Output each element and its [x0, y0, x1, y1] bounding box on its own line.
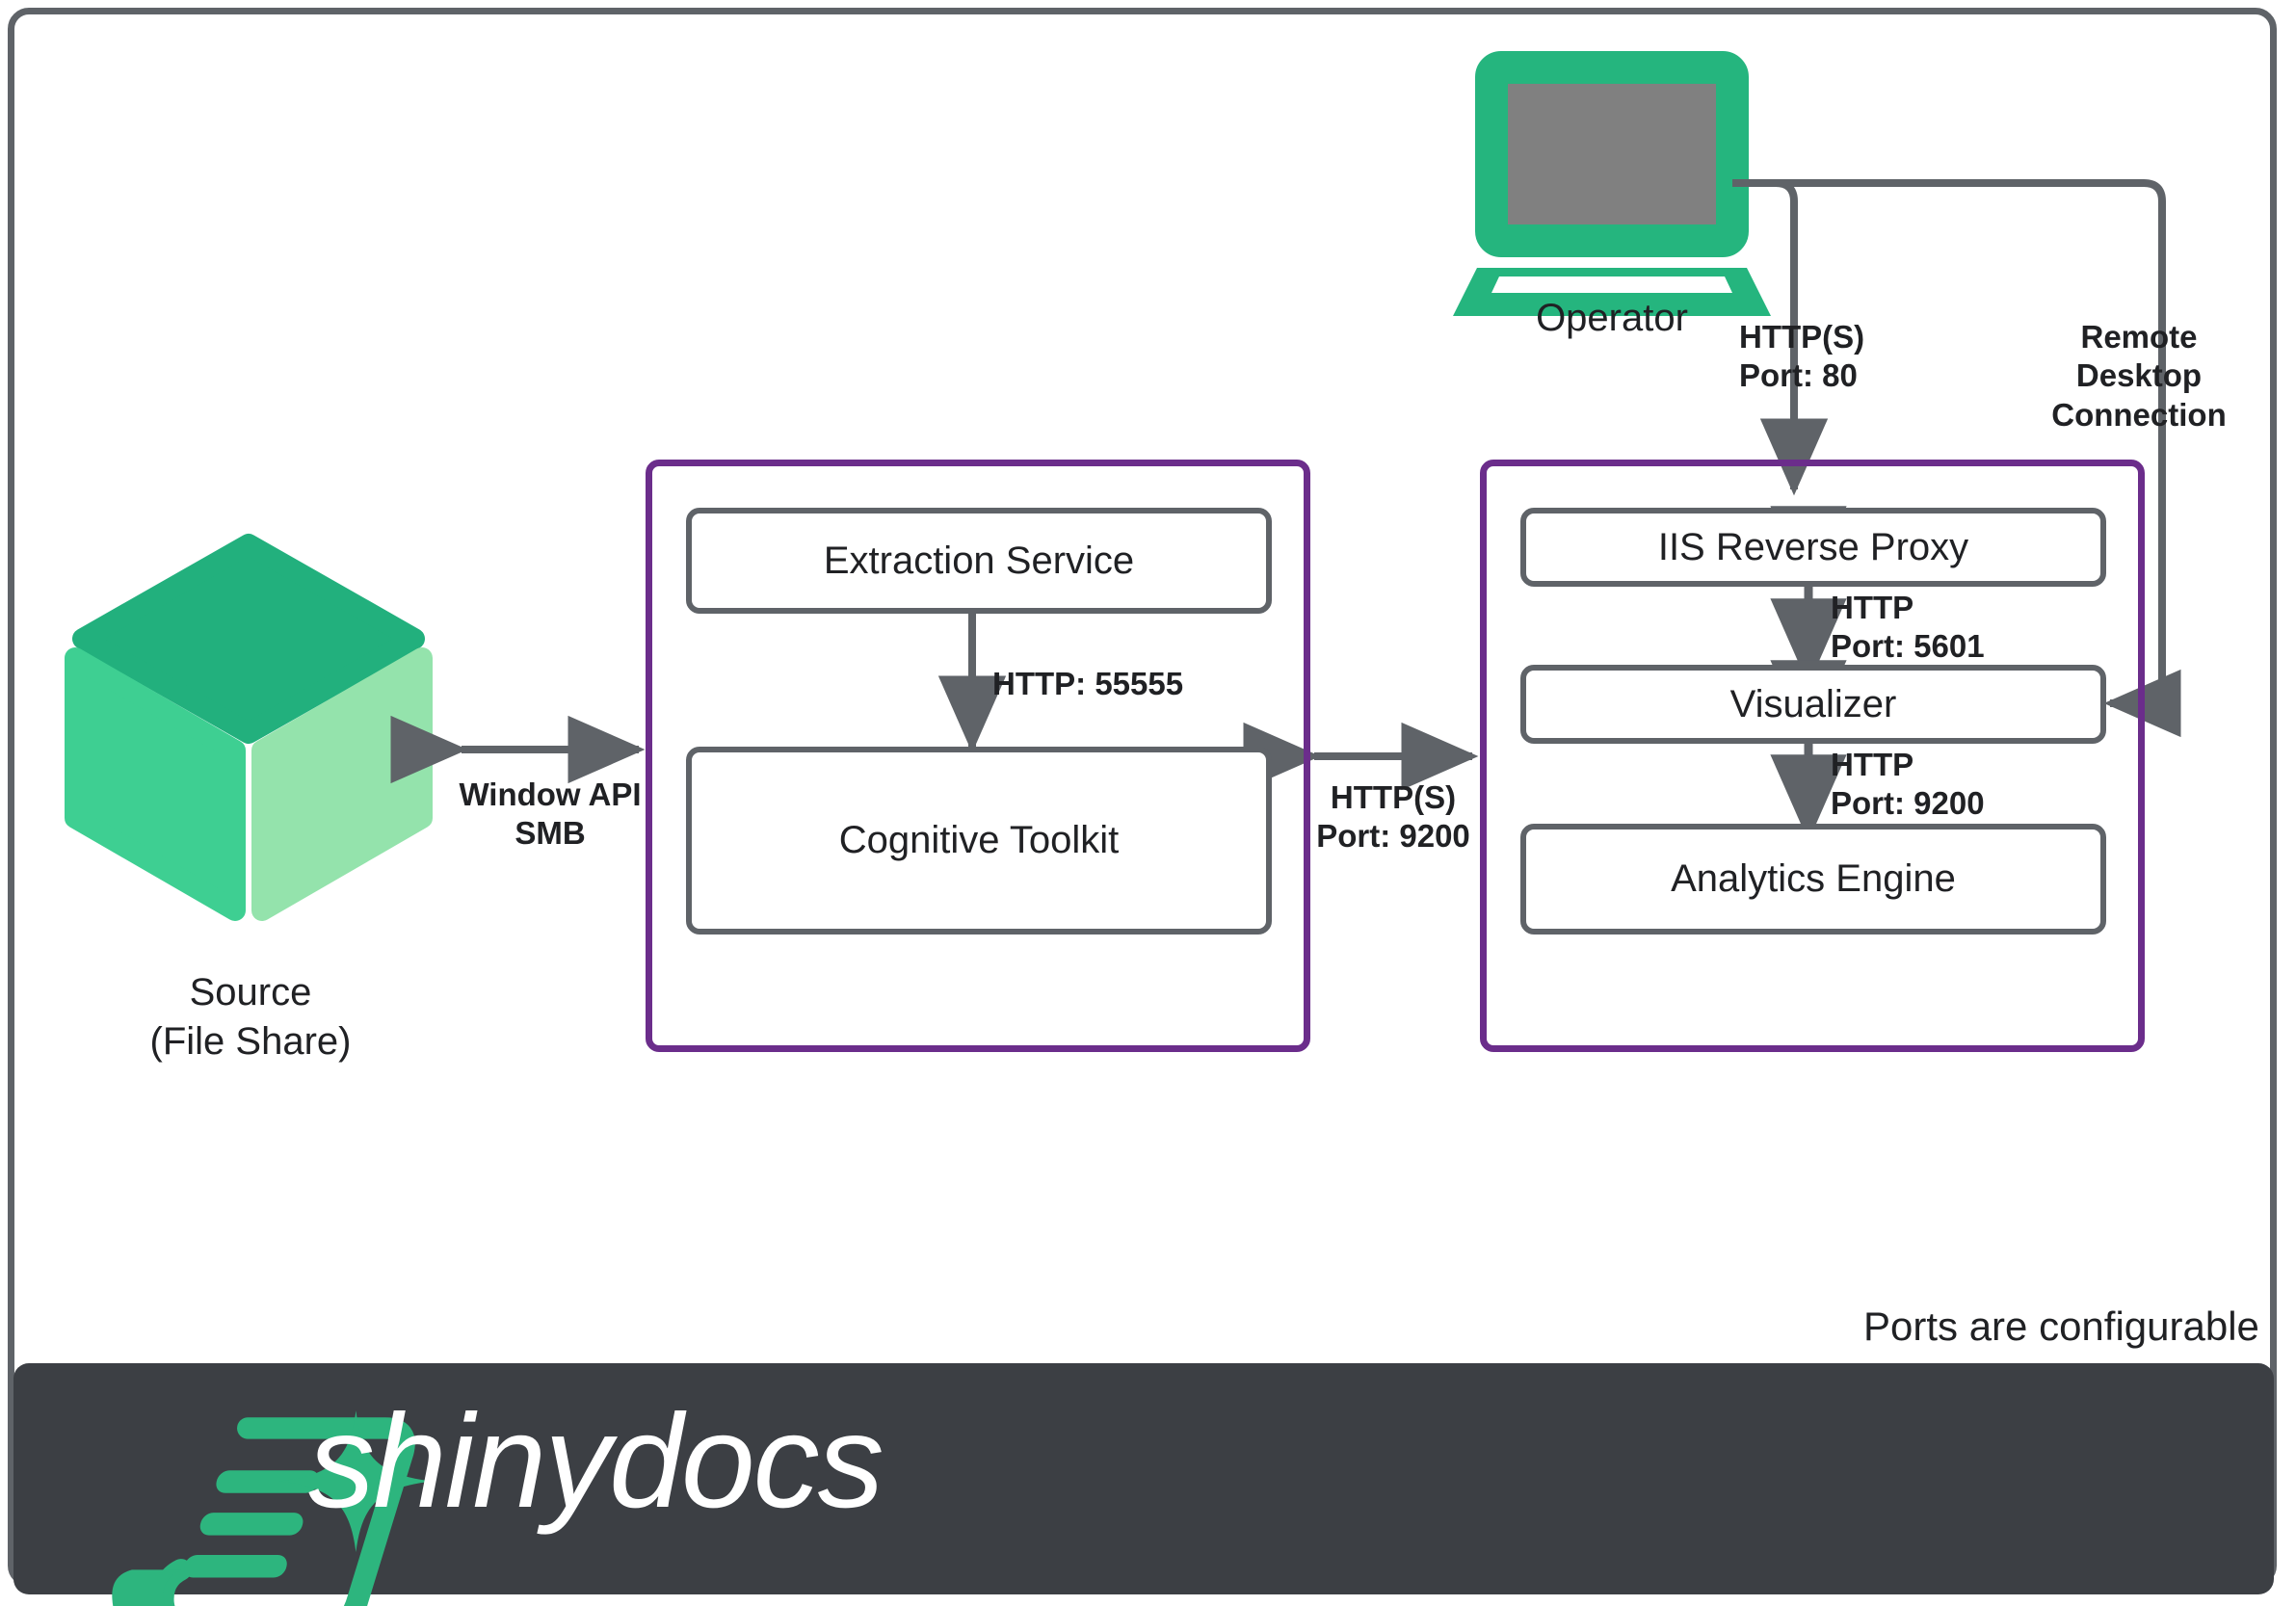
diagram-canvas: Source (File Share) Operator Window API …	[0, 0, 2296, 1606]
brand-wordmark: shinydocs	[308, 1395, 883, 1528]
footer-logo-layer	[0, 0, 2296, 1606]
